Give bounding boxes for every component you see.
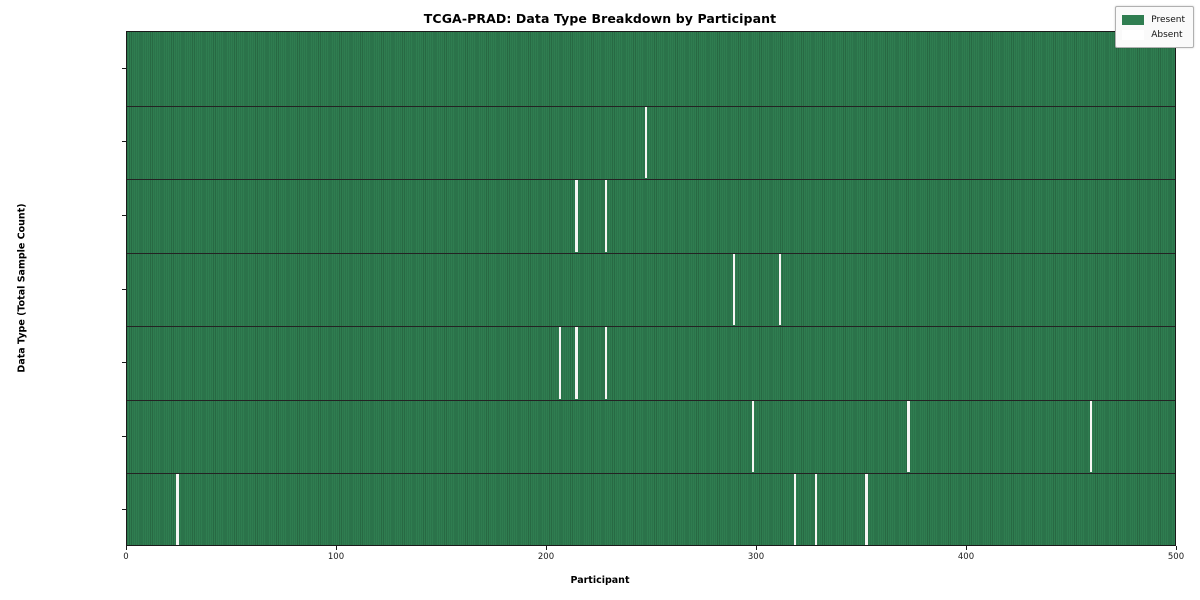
legend-swatch-present	[1122, 15, 1144, 25]
absent-cell	[645, 107, 647, 179]
chart-figure: TCGA-PRAD: Data Type Breakdown by Partic…	[0, 0, 1200, 600]
y-tick-mark	[122, 215, 126, 216]
x-tick-mark	[336, 546, 337, 550]
legend-entry: Absent	[1122, 27, 1185, 42]
legend-entry: Present	[1122, 12, 1185, 27]
row-divider	[127, 473, 1175, 474]
absent-cell	[605, 327, 607, 399]
row-divider	[127, 326, 1175, 327]
absent-cell	[1090, 401, 1092, 473]
y-axis-label: Data Type (Total Sample Count)	[17, 203, 28, 372]
legend-label: Absent	[1151, 30, 1182, 40]
legend-swatch-absent	[1122, 30, 1144, 40]
x-tick-label: 400	[958, 552, 974, 562]
absent-cell	[559, 327, 561, 399]
absent-cell	[605, 180, 607, 252]
absent-cell	[794, 474, 796, 546]
y-tick-mark	[122, 289, 126, 290]
absent-cell	[176, 474, 178, 546]
heatmap-plot-area	[126, 31, 1176, 546]
absent-cell	[575, 180, 577, 252]
x-tick-mark	[756, 546, 757, 550]
absent-cell	[907, 401, 909, 473]
legend-label: Present	[1151, 15, 1185, 25]
absent-cell	[575, 327, 577, 399]
y-tick-mark	[122, 509, 126, 510]
absent-cell	[779, 254, 781, 326]
y-tick-mark	[122, 436, 126, 437]
absent-cell	[865, 474, 867, 546]
participant-cell-grid	[127, 32, 1175, 545]
y-tick-mark	[122, 362, 126, 363]
page-title: TCGA-PRAD: Data Type Breakdown by Partic…	[0, 11, 1200, 26]
x-tick-mark	[1176, 546, 1177, 550]
absent-cell	[752, 401, 754, 473]
row-divider	[127, 400, 1175, 401]
y-tick-mark	[122, 141, 126, 142]
y-tick-mark	[122, 68, 126, 69]
row-divider	[127, 179, 1175, 180]
x-tick-label: 200	[538, 552, 554, 562]
x-tick-mark	[126, 546, 127, 550]
x-tick-label: 500	[1168, 552, 1184, 562]
x-tick-label: 100	[328, 552, 344, 562]
x-tick-mark	[546, 546, 547, 550]
absent-cell	[733, 254, 735, 326]
row-divider	[127, 253, 1175, 254]
x-tick-label: 0	[123, 552, 128, 562]
x-axis-label: Participant	[0, 575, 1200, 586]
x-tick-label: 300	[748, 552, 764, 562]
chart-legend: PresentAbsent	[1115, 6, 1194, 48]
x-tick-mark	[966, 546, 967, 550]
absent-cell	[815, 474, 817, 546]
row-divider	[127, 106, 1175, 107]
